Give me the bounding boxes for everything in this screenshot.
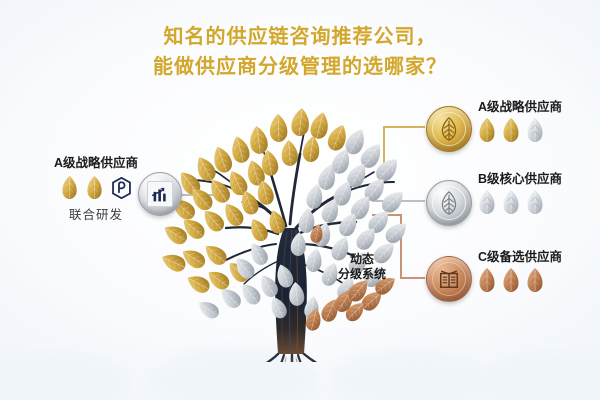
grade-b-badge[interactable] [426,180,472,226]
ledger-book-icon [432,262,466,296]
bronze-leaf-icon [502,268,520,292]
grade-a-label: A级战略供应商 [478,100,562,114]
gold-leaf-cluster [159,107,351,296]
bg-blob [0,352,130,400]
growth-chart-icon [147,181,173,207]
growth-chart-badge[interactable] [138,172,182,216]
silver-leaf-icon [502,190,520,214]
gold-leaf-icon [478,118,496,142]
leaf-medal-icon [432,186,466,220]
left-group-label: A级战略供应商 [26,152,166,171]
grade-a-leaves [478,118,562,142]
title-line-1: 知名的供应链咨询推荐公司， [164,26,437,48]
title-line-2: 能做供应商分级管理的选哪家？ [0,52,600,82]
gold-leaf-icon [502,118,520,142]
infographic-canvas: 知名的供应链咨询推荐公司， 能做供应商分级管理的选哪家？ [0,0,600,400]
center-caption: 动态 分级系统 [325,252,399,282]
grade-c-leaves [478,268,562,292]
center-caption-line-1: 动态 [325,252,399,267]
grade-b-label: B级核心供应商 [478,172,562,186]
center-caption-line-2: 分级系统 [325,267,399,282]
supplier-tree-illustration [150,92,430,362]
gold-leaf-icon [86,176,103,199]
bronze-leaf-icon [478,268,496,292]
grade-c-group: C级备选供应商 [478,250,562,292]
grade-b-group: B级核心供应商 [478,172,562,214]
bg-blob [480,352,600,400]
leaf-medal-icon [432,112,466,146]
grade-a-group: A级战略供应商 [478,100,562,142]
bronze-leaf-icon [526,268,544,292]
gold-leaf-icon [61,176,78,199]
silver-leaf-icon [526,190,544,214]
grade-c-badge[interactable] [426,256,472,302]
partnership-hexagon-icon [111,177,132,199]
grade-b-leaves [478,190,562,214]
grade-c-label: C级备选供应商 [478,250,562,264]
silver-leaf-icon [526,118,544,142]
grade-a-badge[interactable] [426,106,472,152]
silver-leaf-icon [478,190,496,214]
page-title: 知名的供应链咨询推荐公司， 能做供应商分级管理的选哪家？ [0,22,600,82]
